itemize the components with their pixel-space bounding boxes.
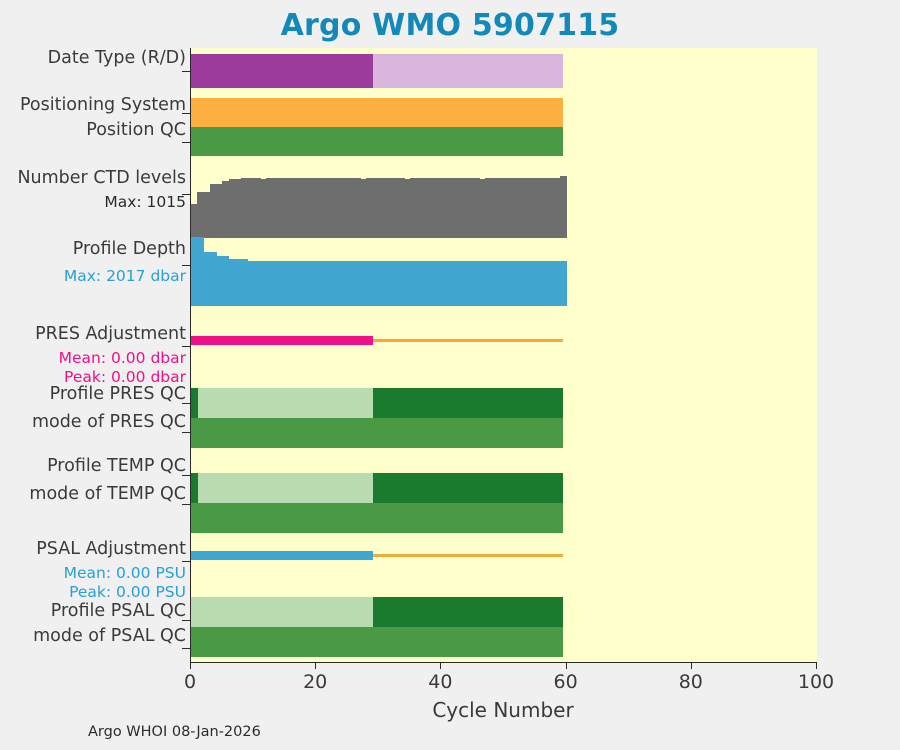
y-tick: [182, 142, 190, 143]
y-tick: [182, 561, 190, 562]
row-label-profile-pres-qc: Profile PRES QC: [50, 385, 186, 403]
x-tick: [566, 662, 567, 669]
plot-area: [190, 48, 817, 662]
x-tick: [315, 662, 316, 669]
y-tick: [182, 265, 190, 266]
bar-segment: [191, 388, 198, 418]
x-tick: [440, 662, 441, 669]
row-sublabel-pres-adjustment-0: Mean: 0.00 dbar: [59, 350, 186, 366]
argo-float-summary-figure: Argo WMO 5907115 Date Type (R/D)Position…: [0, 0, 900, 750]
adjustment-line-segment: [191, 551, 373, 560]
bar-segment: [191, 418, 563, 448]
x-axis-line: [190, 662, 816, 663]
row-sublabel-pres-adjustment-1: Peak: 0.00 dbar: [64, 369, 186, 385]
y-tick: [182, 504, 190, 505]
row-label-profile-temp-qc: Profile TEMP QC: [47, 457, 186, 475]
row-label-position-qc: Position QC: [86, 121, 186, 139]
bar-segment: [373, 597, 563, 627]
x-axis-label: Cycle Number: [190, 698, 816, 722]
bar-segment: [191, 127, 563, 156]
row-label-date-type: Date Type (R/D): [48, 49, 186, 67]
x-tick-label: 40: [405, 671, 475, 693]
bar-segment: [191, 627, 563, 657]
adjustment-line-segment: [191, 336, 373, 345]
x-tick: [816, 662, 817, 669]
bar-segment: [373, 473, 563, 503]
x-tick: [190, 662, 191, 669]
row-label-pres-adjustment: PRES Adjustment: [35, 325, 186, 343]
row-label-profile-depth: Profile Depth: [73, 240, 186, 258]
bar-segment: [191, 503, 563, 533]
row-label-number-ctd-levels: Number CTD levels: [17, 169, 186, 187]
x-tick-label: 100: [781, 671, 851, 693]
row-label-profile-psal-qc: Profile PSAL QC: [51, 602, 186, 620]
y-tick: [182, 648, 190, 649]
bar-segment: [191, 98, 563, 127]
adjustment-line-segment: [373, 339, 563, 342]
row-label-mode-of-temp-qc: mode of TEMP QC: [29, 485, 186, 503]
x-tick-label: 80: [656, 671, 726, 693]
x-tick-label: 60: [531, 671, 601, 693]
bar-segment: [198, 388, 373, 418]
plot-canvas: [191, 48, 817, 662]
row-label-mode-of-pres-qc: mode of PRES QC: [32, 413, 186, 431]
bar-segment: [373, 388, 563, 418]
row-label-mode-of-psal-qc: mode of PSAL QC: [33, 627, 186, 645]
y-tick: [182, 432, 190, 433]
y-tick: [182, 346, 190, 347]
x-tick-label: 20: [280, 671, 350, 693]
footer-credit: Argo WHOI 08-Jan-2026: [88, 724, 261, 740]
row-label-psal-adjustment: PSAL Adjustment: [36, 540, 186, 558]
x-tick: [691, 662, 692, 669]
bar-segment: [191, 597, 373, 627]
bar-segment: [191, 54, 373, 88]
row-sublabel-psal-adjustment-0: Mean: 0.00 PSU: [64, 565, 186, 581]
bar-segment: [373, 54, 563, 88]
row-sublabel-psal-adjustment-1: Peak: 0.00 PSU: [69, 584, 186, 600]
bar-column: [560, 176, 567, 238]
row-sublabel-number-ctd-levels-0: Max: 1015: [104, 194, 186, 210]
row-sublabel-profile-depth-0: Max: 2017 dbar: [64, 268, 186, 284]
bar-segment: [198, 473, 373, 503]
bar-segment: [191, 473, 198, 503]
bar-column: [560, 261, 567, 306]
y-tick: [182, 71, 190, 72]
row-label-positioning-system: Positioning System: [20, 96, 186, 114]
x-tick-label: 0: [155, 671, 225, 693]
adjustment-line-segment: [373, 554, 563, 557]
page-title: Argo WMO 5907115: [0, 8, 900, 43]
